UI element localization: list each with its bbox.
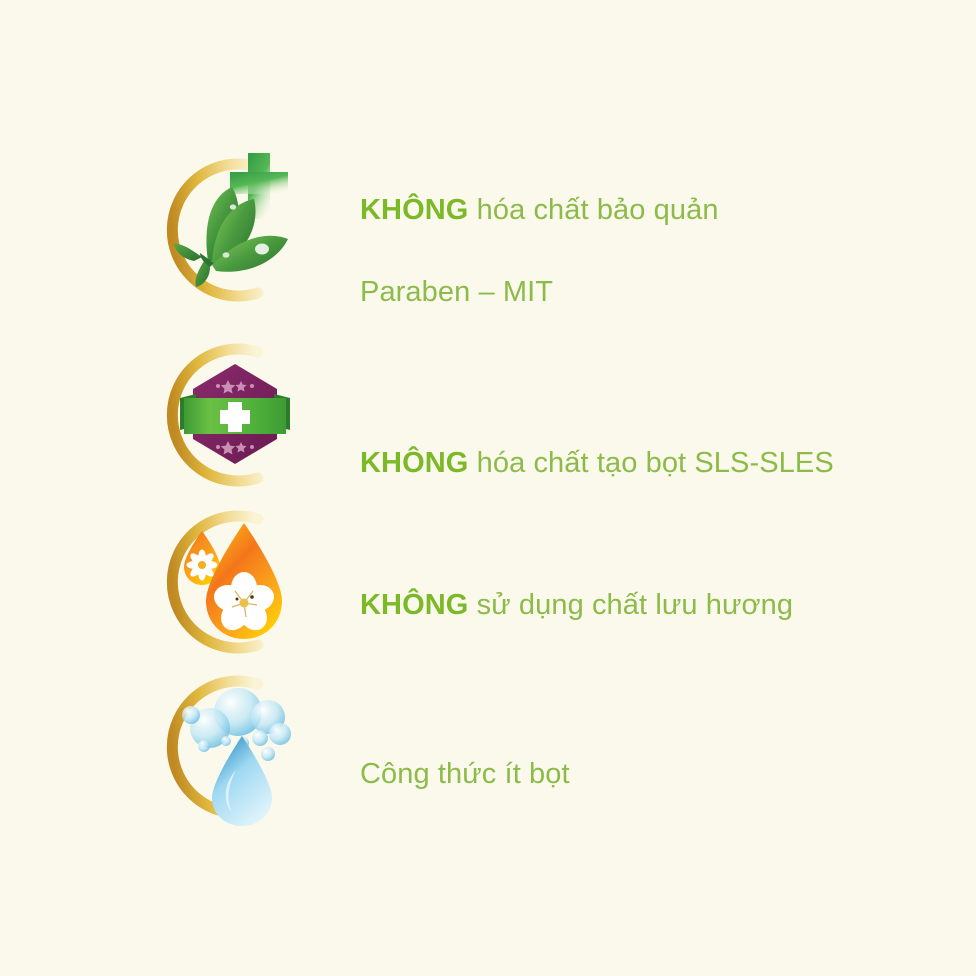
feature-text: KHÔNG sử dụng chất lưu hương	[360, 544, 793, 626]
droplet-flower-icon	[140, 497, 310, 667]
feature-text: KHÔNG hóa chất tạo bọt SLS-SLES	[360, 402, 834, 484]
feature-keyword: KHÔNG	[360, 447, 468, 479]
feature-item: KHÔNG sử dụng chất lưu hương	[140, 497, 960, 667]
feature-keyword: KHÔNG	[360, 194, 468, 226]
hexagon-badge-icon	[140, 330, 310, 500]
bubbles-droplet-icon	[140, 662, 310, 832]
feature-rest: hóa chất bảo quản	[468, 194, 718, 226]
leaf-plus-icon	[140, 145, 310, 315]
feature-rest: sử dụng chất lưu hương	[468, 589, 793, 621]
feature-line2: Paraben – MIT	[360, 276, 553, 308]
feature-keyword: KHÔNG	[360, 589, 468, 621]
feature-rest: hóa chất tạo bọt SLS-SLES	[468, 447, 833, 479]
feature-item: KHÔNG hóa chất bảo quản Paraben – MIT	[140, 145, 960, 315]
feature-rest: Công thức ít bọt	[360, 758, 570, 790]
feature-list: KHÔNG hóa chất bảo quản Paraben – MIT	[0, 0, 976, 976]
feature-item: Công thức ít bọt	[140, 662, 960, 832]
feature-item: KHÔNG hóa chất tạo bọt SLS-SLES	[140, 330, 960, 500]
daisy-flower	[187, 550, 218, 581]
feature-text: KHÔNG hóa chất bảo quản Paraben – MIT	[360, 149, 719, 314]
feature-text: Công thức ít bọt	[360, 713, 570, 795]
